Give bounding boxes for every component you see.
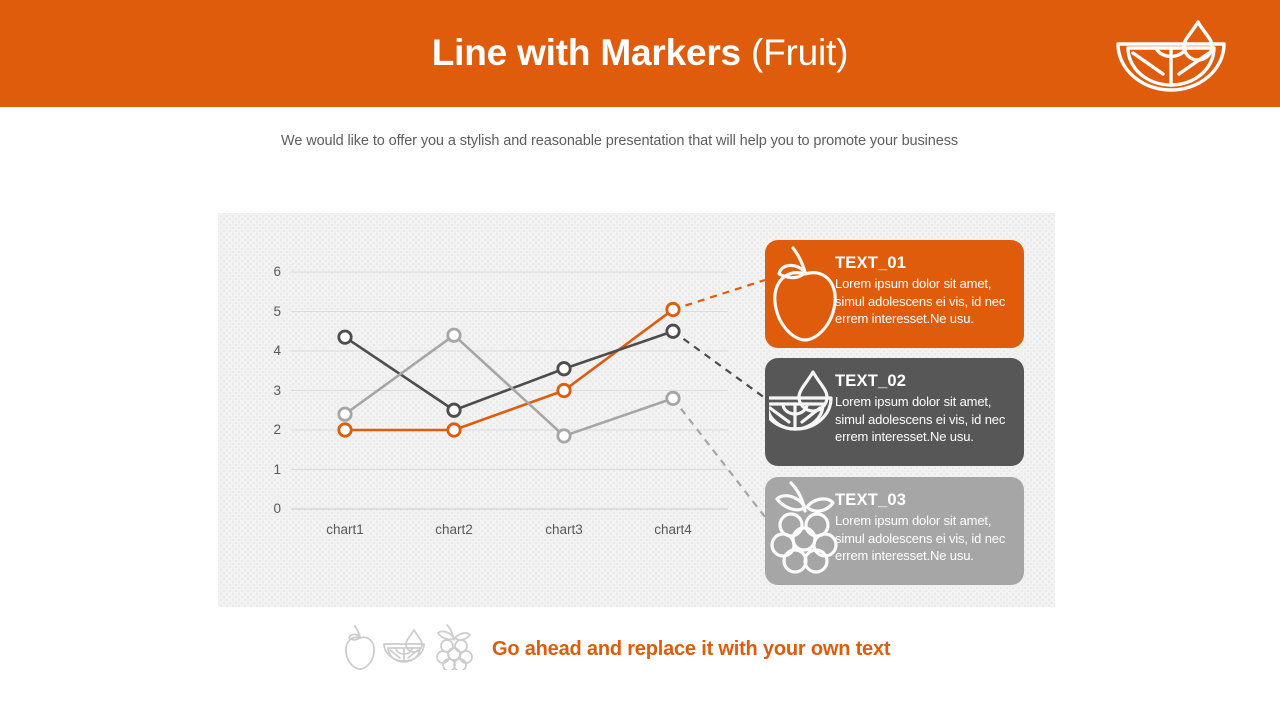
chart-series-lines [345,310,673,436]
chart-x-tick-label: chart4 [623,523,723,537]
callout-card-2[interactable]: TEXT_02 Lorem ipsum dolor sit amet, simu… [765,358,1024,466]
chart-marker [448,424,460,436]
callout-card-1[interactable]: TEXT_01 Lorem ipsum dolor sit amet, simu… [765,240,1024,348]
callout-title-3: TEXT_03 [835,489,1017,511]
apple-icon [346,626,374,669]
chart-y-tick-label: 2 [255,423,281,437]
chart-connector-TEXT_03 [673,398,765,517]
chart-connector-TEXT_01 [673,280,765,310]
chart-y-tick-label: 1 [255,463,281,477]
chart-y-tick-label: 3 [255,384,281,398]
chart-connector-TEXT_02 [673,331,765,398]
chart-marker [667,303,679,315]
chart-series-markers [339,303,679,442]
chart-x-tick-label: chart3 [514,523,614,537]
callout-body-1: TEXT_01 Lorem ipsum dolor sit amet, simu… [835,252,1017,328]
chart-y-tick-label: 5 [255,305,281,319]
grapes-icon [769,481,841,581]
chart-marker [558,430,570,442]
callout-text-3: Lorem ipsum dolor sit amet, simul adoles… [835,512,1017,565]
chart-marker [448,404,460,416]
citrus-slice-icon [384,630,424,662]
callout-text-1: Lorem ipsum dolor sit amet, simul adoles… [835,275,1017,328]
citrus-slice-icon [1106,12,1236,94]
chart-y-tick-label: 0 [255,502,281,516]
apple-icon [769,244,841,344]
chart-marker [667,392,679,404]
chart-connector-lines [673,280,765,517]
chart-marker [558,384,570,396]
callout-title-1: TEXT_01 [835,252,1017,274]
subtitle-text: We would like to offer you a stylish and… [281,131,1141,151]
chart-x-tick-label: chart2 [404,523,504,537]
page-title-light: (Fruit) [741,32,848,73]
page-title-bold: Line with Markers [432,32,741,73]
chart-line-TEXT_03 [345,335,673,436]
callout-title-2: TEXT_02 [835,370,1017,392]
page-title: Line with Markers (Fruit) [0,30,1280,76]
callout-body-2: TEXT_02 Lorem ipsum dolor sit amet, simu… [835,370,1017,446]
callout-text-2: Lorem ipsum dolor sit amet, simul adoles… [835,393,1017,446]
chart-y-tick-label: 6 [255,265,281,279]
chart-marker [448,329,460,341]
chart-marker [339,408,351,420]
chart-line-TEXT_02 [345,331,673,410]
chart-x-tick-label: chart1 [295,523,395,537]
chart-marker [339,424,351,436]
header-bar: Line with Markers (Fruit) [0,0,1280,107]
footer-fruit-icons [340,624,480,670]
citrus-slice-icon [769,362,841,462]
grapes-icon [437,625,472,670]
chart-marker [339,331,351,343]
callout-card-3[interactable]: TEXT_03 Lorem ipsum dolor sit amet, simu… [765,477,1024,585]
chart-marker [667,325,679,337]
chart-y-tick-label: 4 [255,344,281,358]
callout-body-3: TEXT_03 Lorem ipsum dolor sit amet, simu… [835,489,1017,565]
footer-text: Go ahead and replace it with your own te… [492,634,890,664]
chart-marker [558,363,570,375]
